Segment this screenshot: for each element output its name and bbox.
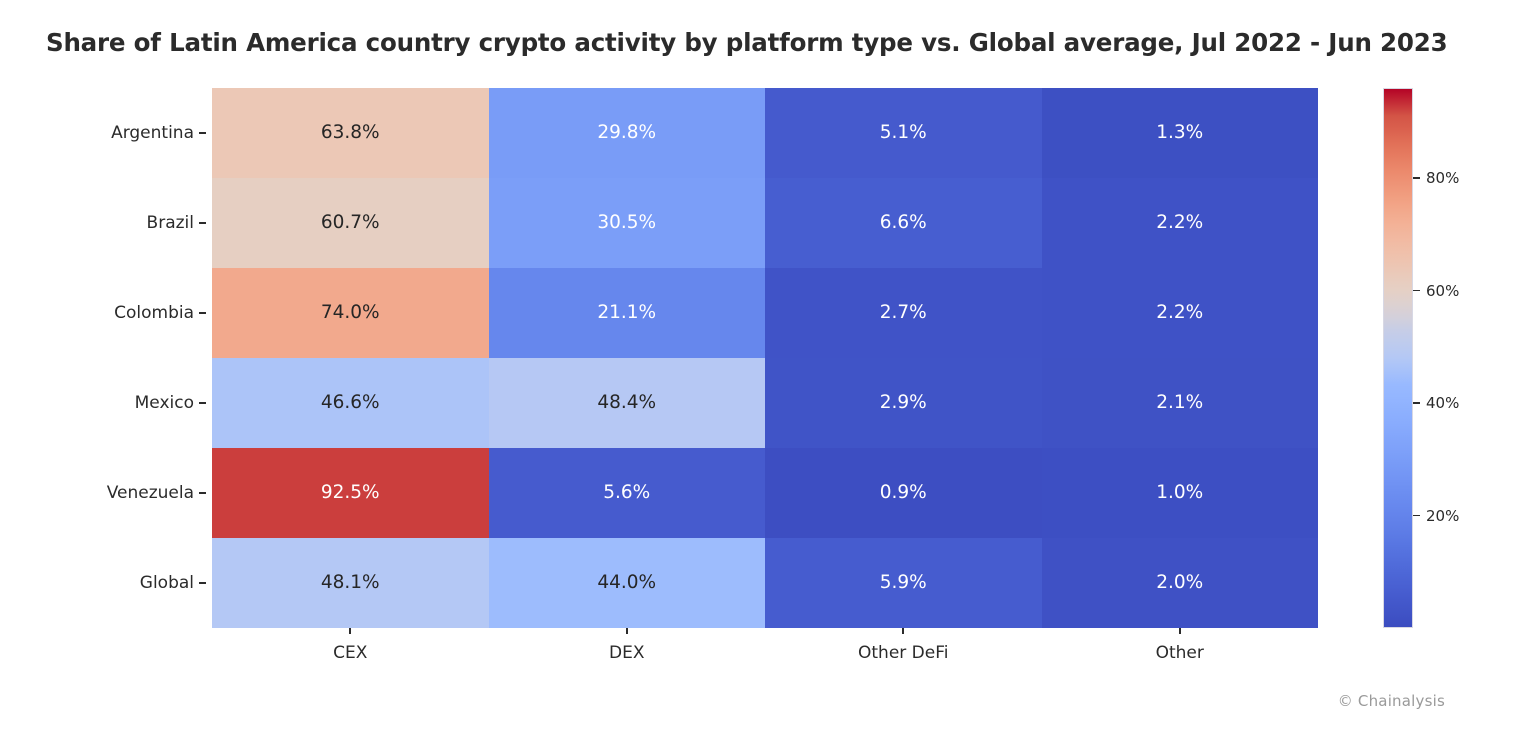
- y-axis-tick-colombia: Colombia: [0, 268, 212, 358]
- heatmap-cell-value: 1.0%: [1156, 484, 1203, 503]
- watermark: © Chainalysis: [1338, 692, 1445, 710]
- heatmap-cell: 2.7%: [765, 268, 1042, 358]
- colorbar-tickmark: [1413, 515, 1420, 517]
- x-axis-tick-label: DEX: [609, 643, 644, 663]
- heatmap-cell-value: 1.3%: [1156, 124, 1203, 143]
- y-axis-tick-label: Argentina: [111, 123, 194, 143]
- x-axis-tickmark: [349, 628, 351, 634]
- y-axis-tick-label: Venezuela: [107, 483, 194, 503]
- heatmap-cell-value: 2.9%: [880, 394, 927, 413]
- colorbar-tick-label: 40%: [1426, 394, 1459, 412]
- heatmap-cell: 2.2%: [1042, 268, 1319, 358]
- heatmap-cell-value: 44.0%: [597, 574, 656, 593]
- heatmap-cell-value: 5.1%: [880, 124, 927, 143]
- heatmap-figure: Share of Latin America country crypto ac…: [0, 0, 1519, 732]
- y-axis-tickmark: [199, 402, 206, 404]
- y-axis-tickmark: [199, 222, 206, 224]
- heatmap-cell: 44.0%: [489, 538, 766, 628]
- heatmap-cell: 2.1%: [1042, 358, 1319, 448]
- heatmap-cell-value: 2.1%: [1156, 394, 1203, 413]
- heatmap-cell-value: 2.7%: [880, 304, 927, 323]
- y-axis-tick-venezuela: Venezuela: [0, 448, 212, 538]
- x-axis-tick-other-defi: Other DeFi: [765, 628, 1042, 672]
- heatmap-cell-value: 5.6%: [603, 484, 650, 503]
- x-axis-tickmark: [626, 628, 628, 634]
- y-axis-labels: ArgentinaBrazilColombiaMexicoVenezuelaGl…: [0, 88, 212, 628]
- colorbar-ticks: 20%40%60%80%: [1413, 88, 1503, 628]
- heatmap-cell-value: 21.1%: [597, 304, 656, 323]
- y-axis-tick-global: Global: [0, 538, 212, 628]
- heatmap-cell-value: 92.5%: [321, 484, 380, 503]
- colorbar-tick-80: 80%: [1413, 169, 1459, 187]
- colorbar-tickmark: [1413, 177, 1420, 179]
- heatmap-cell: 21.1%: [489, 268, 766, 358]
- heatmap-cell-value: 6.6%: [880, 214, 927, 233]
- heatmap-cell: 2.2%: [1042, 178, 1319, 268]
- x-axis-tick-other: Other: [1042, 628, 1319, 672]
- heatmap-cell: 60.7%: [212, 178, 489, 268]
- colorbar-tick-label: 60%: [1426, 282, 1459, 300]
- colorbar-tick-60: 60%: [1413, 282, 1459, 300]
- colorbar-tick-label: 80%: [1426, 169, 1459, 187]
- heatmap-cell: 48.1%: [212, 538, 489, 628]
- x-axis-tickmark: [1179, 628, 1181, 634]
- heatmap-cell: 5.9%: [765, 538, 1042, 628]
- x-axis-tickmark: [902, 628, 904, 634]
- heatmap-cell: 1.3%: [1042, 88, 1319, 178]
- heatmap-cell: 5.6%: [489, 448, 766, 538]
- heatmap-cell-value: 2.0%: [1156, 574, 1203, 593]
- y-axis-tickmark: [199, 582, 206, 584]
- colorbar-tickmark: [1413, 290, 1420, 292]
- heatmap-cell: 63.8%: [212, 88, 489, 178]
- heatmap-cell-value: 0.9%: [880, 484, 927, 503]
- heatmap-cell-value: 60.7%: [321, 214, 380, 233]
- colorbar-tick-label: 20%: [1426, 507, 1459, 525]
- y-axis-tick-label: Brazil: [147, 213, 194, 233]
- y-axis-tick-label: Mexico: [135, 393, 194, 413]
- heatmap-grid: 63.8%29.8%5.1%1.3%60.7%30.5%6.6%2.2%74.0…: [212, 88, 1318, 628]
- x-axis-tick-label: Other: [1156, 643, 1204, 663]
- heatmap-cell-value: 2.2%: [1156, 214, 1203, 233]
- heatmap-cell-value: 63.8%: [321, 124, 380, 143]
- heatmap-cell-value: 74.0%: [321, 304, 380, 323]
- y-axis-tick-label: Colombia: [114, 303, 194, 323]
- heatmap-cell: 46.6%: [212, 358, 489, 448]
- heatmap-cell-value: 48.1%: [321, 574, 380, 593]
- y-axis-tickmark: [199, 312, 206, 314]
- y-axis-tickmark: [199, 132, 206, 134]
- heatmap-cell: 74.0%: [212, 268, 489, 358]
- heatmap-cell-value: 2.2%: [1156, 304, 1203, 323]
- page-title: Share of Latin America country crypto ac…: [46, 28, 1486, 57]
- x-axis-tick-cex: CEX: [212, 628, 489, 672]
- heatmap-cell: 0.9%: [765, 448, 1042, 538]
- y-axis-tick-argentina: Argentina: [0, 88, 212, 178]
- y-axis-tick-label: Global: [140, 573, 194, 593]
- heatmap-cell-value: 46.6%: [321, 394, 380, 413]
- x-axis-tick-label: Other DeFi: [858, 643, 949, 663]
- y-axis-tick-brazil: Brazil: [0, 178, 212, 268]
- heatmap-cell-value: 29.8%: [597, 124, 656, 143]
- heatmap-cell-value: 5.9%: [880, 574, 927, 593]
- colorbar-tickmark: [1413, 402, 1420, 404]
- colorbar: [1383, 88, 1413, 628]
- heatmap-cell: 2.0%: [1042, 538, 1319, 628]
- heatmap-cell-value: 48.4%: [597, 394, 656, 413]
- y-axis-tick-mexico: Mexico: [0, 358, 212, 448]
- heatmap-cell: 5.1%: [765, 88, 1042, 178]
- heatmap-cell: 1.0%: [1042, 448, 1319, 538]
- colorbar-tick-40: 40%: [1413, 394, 1459, 412]
- heatmap-cell: 6.6%: [765, 178, 1042, 268]
- heatmap-cell: 29.8%: [489, 88, 766, 178]
- x-axis-tick-label: CEX: [333, 643, 367, 663]
- heatmap-cell-value: 30.5%: [597, 214, 656, 233]
- heatmap-cell: 48.4%: [489, 358, 766, 448]
- colorbar-gradient: [1383, 88, 1413, 628]
- heatmap-cell: 92.5%: [212, 448, 489, 538]
- colorbar-tick-20: 20%: [1413, 507, 1459, 525]
- heatmap-cell: 2.9%: [765, 358, 1042, 448]
- heatmap-cell: 30.5%: [489, 178, 766, 268]
- y-axis-tickmark: [199, 492, 206, 494]
- x-axis-labels: CEXDEXOther DeFiOther: [212, 628, 1318, 672]
- x-axis-tick-dex: DEX: [489, 628, 766, 672]
